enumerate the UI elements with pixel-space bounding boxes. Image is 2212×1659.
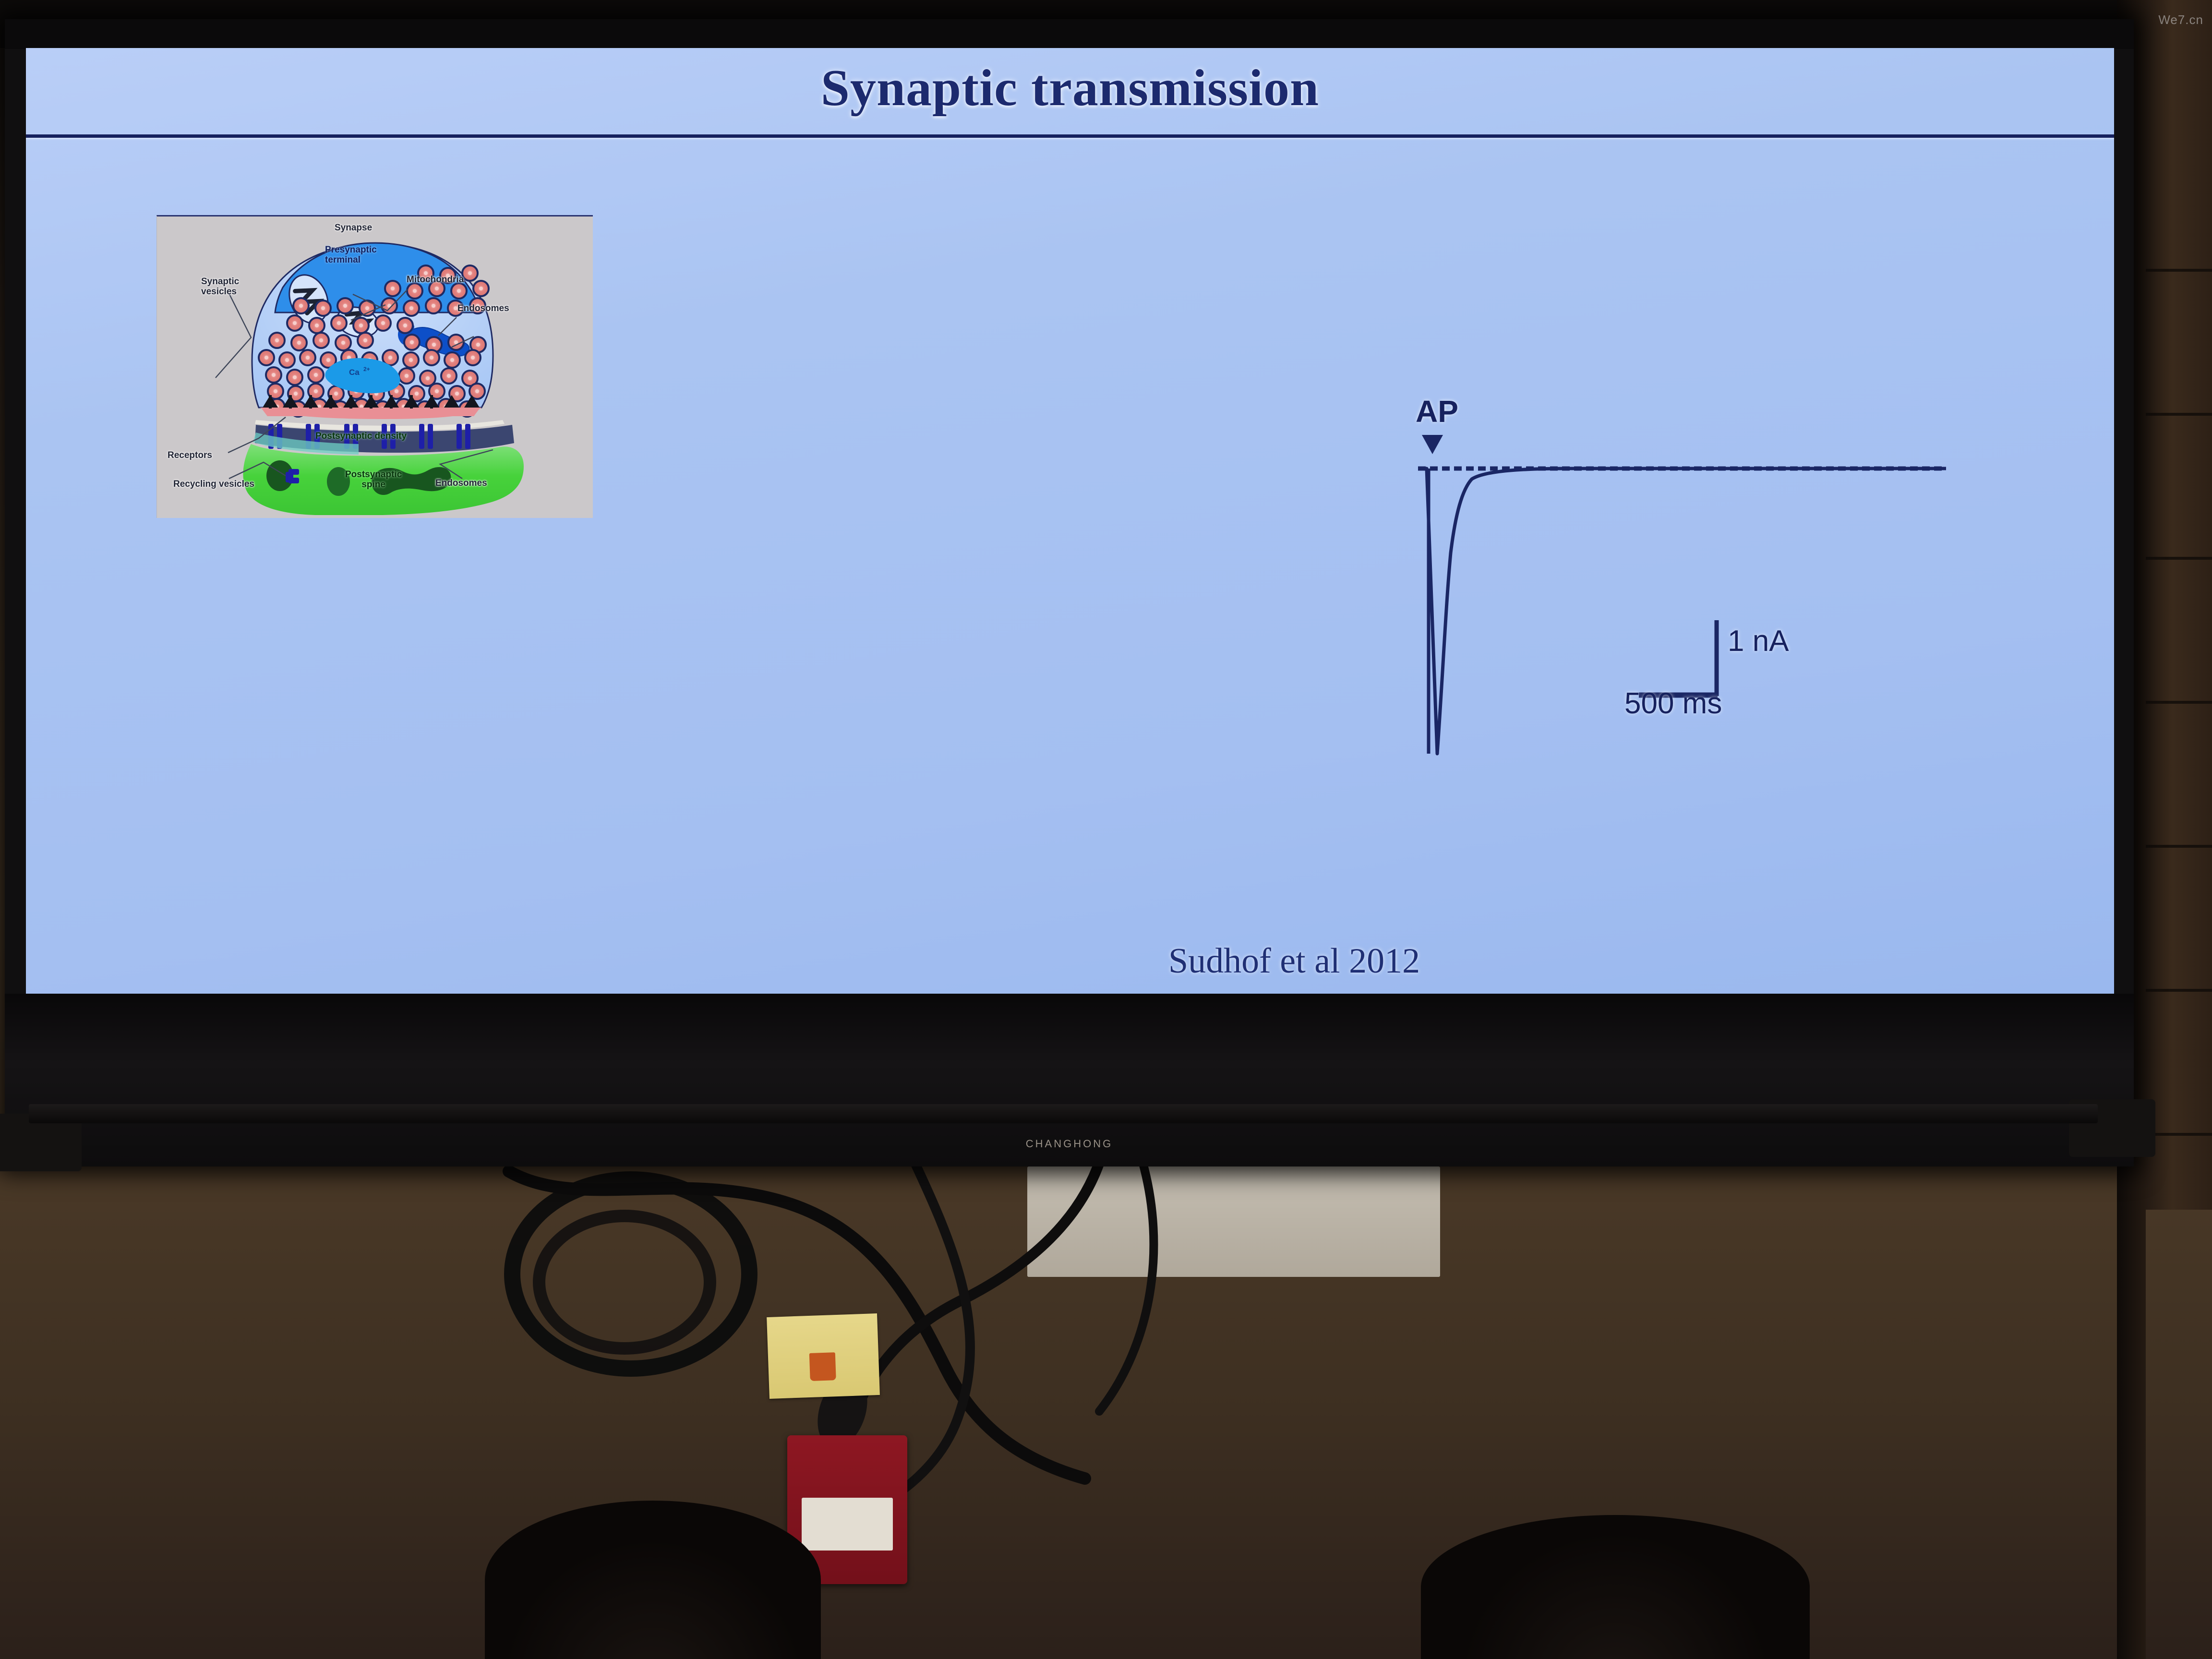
- diagram-label-mitochondria: Mitochondria: [407, 275, 464, 285]
- alarm-instruction-label: [802, 1498, 893, 1551]
- cabinet-seam: [2146, 701, 2212, 704]
- monitor-brand-logo: CHANGHONG: [5, 1138, 2134, 1150]
- display-monitor: Synaptic transmission: [5, 19, 2134, 1166]
- diagram-label-postsynaptic-spine: Postsynaptic spine: [345, 470, 402, 490]
- label-line-2: spine: [345, 480, 402, 490]
- audience-head: [1421, 1515, 1810, 1659]
- page-title: Synaptic transmission: [26, 59, 2114, 118]
- scale-bar-time-label: 500 ms: [1624, 686, 1722, 721]
- hand-press-icon: [809, 1352, 836, 1381]
- monitor-screen: Synaptic transmission: [26, 48, 2114, 994]
- diagram-label-receptors: Receptors: [168, 451, 212, 461]
- label-line-1: Presynaptic: [325, 245, 377, 255]
- cabinet-seam: [2146, 413, 2212, 416]
- watermark-text: We7.cn: [2158, 12, 2203, 27]
- diagram-label-endosomes-post: Endosomes: [435, 479, 487, 489]
- cabinet-seam: [2146, 557, 2212, 560]
- diagram-label-recycling-vesicles: Recycling vesicles: [173, 480, 254, 490]
- diagram-label-synaptic-vesicles: Synaptic vesicles: [201, 277, 239, 297]
- scale-bar-current-label: 1 nA: [1728, 624, 1789, 658]
- label-line-2: vesicles: [201, 287, 239, 297]
- ap-annotation-label: AP: [1416, 394, 1458, 429]
- instruction-sticker: [767, 1313, 880, 1399]
- diagram-label-presynaptic-terminal: Presynaptic terminal: [325, 245, 377, 265]
- title-divider: [26, 134, 2114, 138]
- citation-text: Sudhof et al 2012: [1168, 941, 1420, 982]
- diagram-label-endosomes-pre: Endosomes: [457, 304, 509, 314]
- presentation-slide: Synaptic transmission: [26, 48, 2114, 994]
- svg-text:Ca: Ca: [349, 368, 360, 377]
- cabinet-seam: [2146, 845, 2212, 848]
- svg-text:2+: 2+: [363, 366, 370, 373]
- audience-head: [485, 1501, 821, 1659]
- synapse-diagram-panel: Ca 2+: [156, 215, 593, 518]
- cabinet-seam: [2146, 269, 2212, 272]
- soundbar: [29, 1104, 2098, 1123]
- cabinet-seam: [2146, 989, 2212, 992]
- label-line-1: Synaptic: [201, 277, 239, 287]
- cable-bundle: [240, 1142, 1584, 1623]
- label-line-1: Postsynaptic: [345, 470, 402, 480]
- monitor-bezel-top: [5, 19, 2134, 49]
- monitor-bezel-bottom: CHANGHONG: [5, 994, 2134, 1166]
- diagram-label-postsynaptic-density: Postsynaptic density: [315, 432, 407, 442]
- cabinet-seam: [2146, 1133, 2212, 1136]
- wall-cabinet: [2146, 0, 2212, 1210]
- label-line-2: terminal: [325, 255, 377, 265]
- diagram-label-synapse: Synapse: [335, 223, 372, 233]
